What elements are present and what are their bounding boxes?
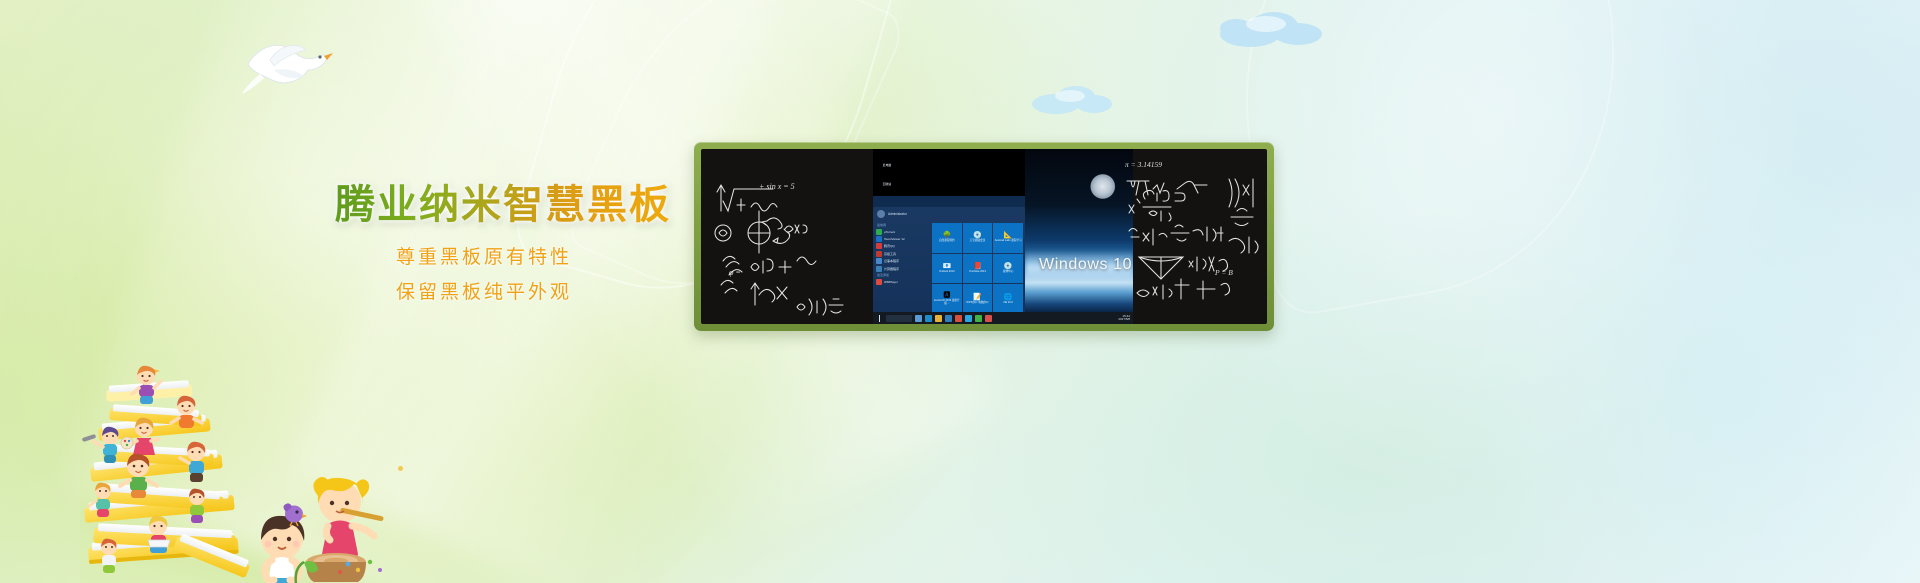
dove-icon [240,30,340,96]
page-title: 腾业纳米智慧黑板 [335,182,671,228]
qq-icon[interactable] [965,315,972,322]
start-menu-item[interactable]: 记事本程序 [875,258,929,265]
this-pc-glyph: 🖥 [881,152,894,162]
item-label: 记事本程序 [884,259,899,263]
teamviewer-icon [876,236,882,242]
start-menu-item[interactable]: μTorrent [875,228,929,235]
avatar [877,210,885,218]
windows-desktop[interactable]: Windows 10 🖥 此电脑 🗑 回收站 [873,149,1133,324]
wechat-icon[interactable] [975,315,982,322]
this-pc-label: 此电脑 [883,163,891,167]
smart-blackboard-device: + sin x = 5 φ = Windows 10 🖥 此电脑 🗑 [694,142,1274,331]
tile-autocad[interactable]: 📐 Autocad Labs 课程学习 [993,223,1023,253]
tile-label: Autocad Labs 课程学习 [994,240,1023,243]
subtitle-line-2: 保留黑板纯平外观 [396,277,572,304]
browser-icon: 🌐 [1004,294,1013,301]
tile-video-call[interactable]: 💿 万宝视频会议 [963,223,993,253]
music-icon[interactable] [985,315,992,322]
notepad-icon [876,258,882,264]
tile-wps[interactable]: 📝 WPS办公 电脑办公 [963,284,993,314]
start-menu-header [873,196,1025,207]
explorer-icon[interactable] [935,315,942,322]
start-menu-tiles[interactable]: 🌳 自然课程预约 💿 万宝视频会议 📐 Autocad Labs 课程学习 [931,221,1025,309]
item-label: 高级工具 [884,252,896,256]
taskbar[interactable]: 15:42 2017/5/8 [873,312,1133,324]
utorrent-icon [876,229,882,235]
start-menu-item[interactable]: TeamViewer 12 [875,235,929,242]
taskview-icon[interactable] [915,315,922,322]
user-name: Administrator [888,212,907,216]
tile-label: AutoCAD 2016 最新升级… [932,300,962,305]
item-label: TeamViewer 12 [884,237,905,241]
tile-label: NE 10.0 [1002,302,1013,305]
tile-nature[interactable]: 🌳 自然课程预约 [932,223,962,253]
tile-label: Outlook 2013 [938,271,955,274]
item-label: 计算器程序 [884,267,899,271]
tile-label: 自然课程预约 [938,240,956,243]
start-menu-user[interactable]: Administrator [873,207,1025,221]
tile-label: OneNote 2013 [968,271,987,274]
svg-text:π = 3.14159: π = 3.14159 [1125,160,1162,169]
wmplayer-icon [876,279,882,285]
recycle-bin-label: 回收站 [883,182,891,186]
qq-icon [876,243,882,249]
children-on-books-illustration [48,358,393,583]
tile-label: WPS办公 电脑办公 [965,302,989,305]
dev-tools-icon [876,251,882,257]
chalk-equations-right: π = 3.14159 P = B [1119,149,1267,324]
chalk-equations-left: + sin x = 5 φ = [701,149,873,324]
decorative-dot [398,466,403,471]
start-menu-item[interactable]: 计算器程序 [875,265,929,272]
tile-outlook[interactable]: 📧 Outlook 2013 [932,254,962,284]
search-input[interactable] [886,315,912,322]
tile-disc[interactable]: 💿 媒体中心 [993,254,1023,284]
cloud-icon [1028,82,1114,121]
tile-onenote[interactable]: 📕 OneNote 2013 [963,254,993,284]
start-menu-item[interactable]: WMPlayer [875,278,929,285]
start-menu[interactable]: Administrator 最常用 μTorrent TeamViewer 12 [873,196,1025,312]
promo-banner: 腾业纳米智慧黑板 尊重黑板原有特性 保留黑板纯平外观 [0,0,1920,583]
blackboard-screen: + sin x = 5 φ = Windows 10 🖥 此电脑 🗑 [701,149,1267,324]
tile-label: 万宝视频会议 [969,240,987,243]
svg-text:φ =: φ = [729,268,741,277]
item-label: μTorrent [884,230,895,234]
recycle-bin-icon[interactable]: 🗑 回收站 [876,172,898,187]
calculator-icon [876,266,882,272]
start-menu-app-list[interactable]: 最常用 μTorrent TeamViewer 12 [873,221,931,309]
item-label: 腾讯QQ [884,244,895,248]
desktop-icon-list[interactable]: 🖥 此电脑 🗑 回收站 [876,152,898,191]
svg-text:+ sin x = 5: + sin x = 5 [759,182,795,191]
wps-icon: 📝 [973,294,982,301]
subtitle-line-1: 尊重黑板原有特性 [396,242,572,269]
this-pc-icon[interactable]: 🖥 此电脑 [876,152,898,167]
start-menu-item[interactable]: 腾讯QQ [875,243,929,250]
tile-autocad2[interactable]: 🅰 AutoCAD 2016 最新升级… [932,284,962,314]
edge-icon[interactable] [925,315,932,322]
chrome-icon[interactable] [955,315,962,322]
start-menu-item[interactable]: 高级工具 [875,250,929,257]
windows-start-icon[interactable] [876,315,883,322]
tile-label: 媒体中心 [1002,271,1014,274]
tile-chrome[interactable]: 🌐 NE 10.0 [993,284,1023,314]
wallpaper: Windows 10 [1025,149,1133,312]
svg-text:P = B: P = B [1214,268,1233,277]
item-label: WMPlayer [884,280,898,284]
store-icon[interactable] [945,315,952,322]
recycle-bin-glyph: 🗑 [881,172,894,182]
